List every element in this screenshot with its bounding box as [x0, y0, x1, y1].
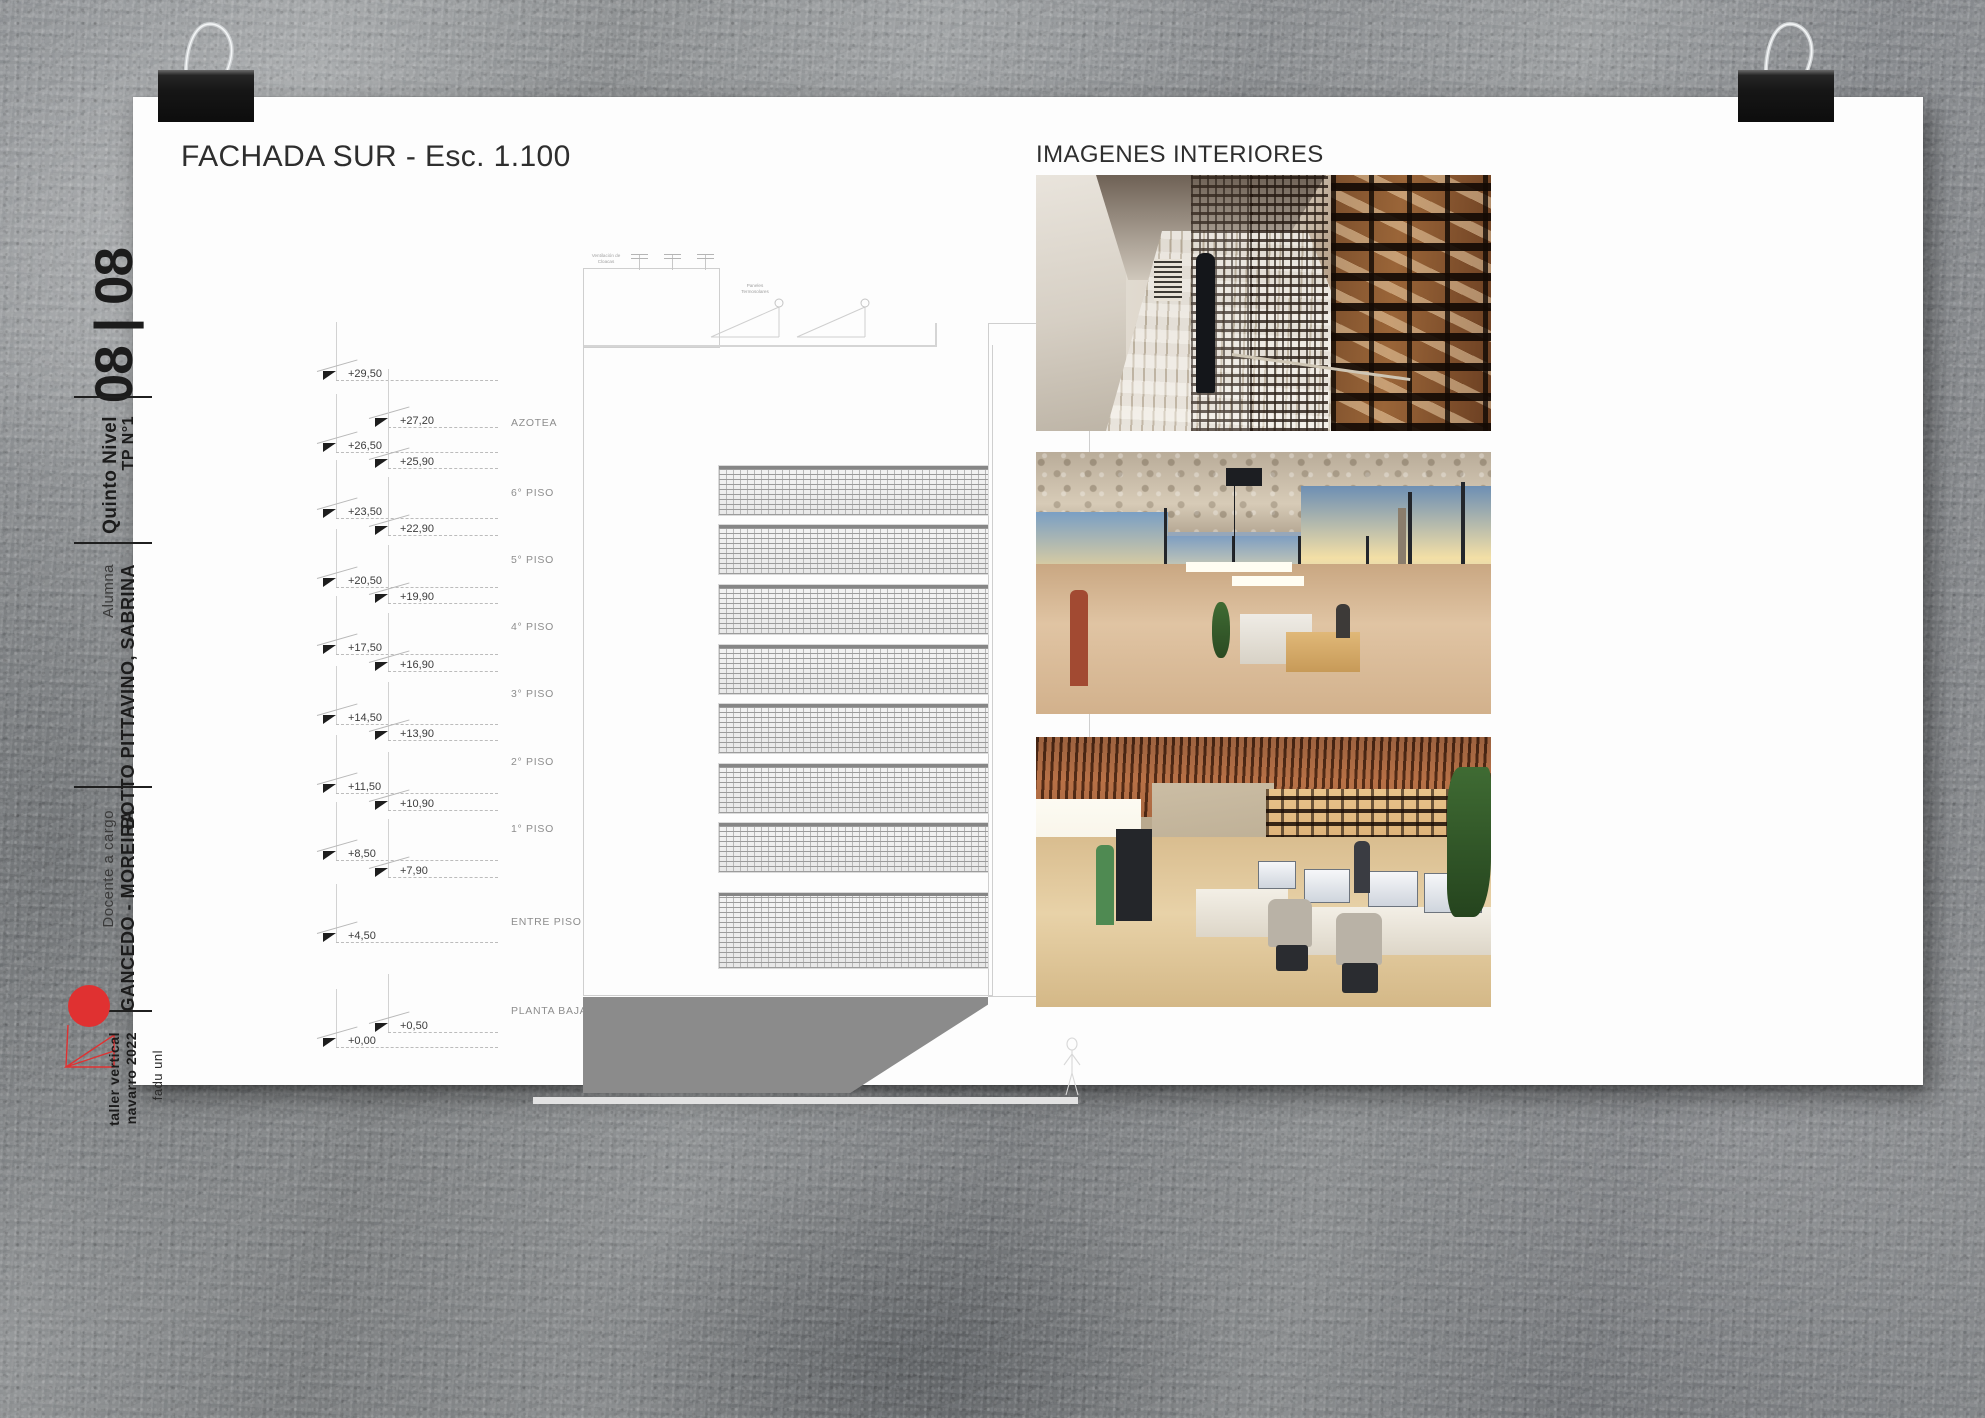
level-marker-triangle — [323, 784, 336, 793]
interior-image-office[interactable] — [1036, 737, 1491, 1007]
level-value-label: +14,50 — [348, 712, 382, 724]
floor-label: ENTRE PISO — [511, 916, 582, 928]
level-marker-triangle — [375, 662, 388, 671]
level-marker-triangle — [323, 1038, 336, 1047]
level-value-label: +11,50 — [348, 781, 381, 793]
level-datum-dashed-line — [336, 587, 498, 588]
level-marker-vertical-line — [336, 989, 337, 1047]
level-marker-vertical-line — [388, 613, 389, 671]
level-value-label: +10,90 — [400, 798, 434, 810]
scale-figure-icon — [1061, 1037, 1083, 1097]
perforated-screen-band — [719, 585, 988, 634]
level-value-label: +23,50 — [348, 506, 382, 518]
page-number: 08 | 08 — [88, 248, 141, 403]
monitor — [1368, 871, 1418, 907]
floor-label: 1° PISO — [511, 823, 554, 835]
perforated-screen-band — [719, 823, 988, 872]
level-marker-vertical-line — [336, 666, 337, 724]
floor-label: AZOTEA — [511, 417, 557, 429]
level-value-label: +8,50 — [348, 848, 376, 860]
level-value-label: +0,50 — [400, 1020, 428, 1032]
interior-image-corridor[interactable] — [1036, 175, 1491, 431]
binder-clip-right — [1738, 18, 1834, 122]
level-marker-triangle — [323, 371, 336, 380]
level-value-label: +27,20 — [400, 415, 434, 427]
level-datum-dashed-line — [336, 452, 498, 453]
level-marker-vertical-line — [336, 322, 337, 380]
level-marker-triangle — [323, 851, 336, 860]
vent-stack-cap — [664, 258, 681, 259]
level-datum-dashed-line — [336, 793, 498, 794]
level-marker-triangle — [375, 868, 388, 877]
level-marker-vertical-line — [336, 735, 337, 793]
level-datum-dashed-line — [388, 740, 498, 741]
annotation-ventilacion-cloacas: Ventilación de Cloacas — [583, 253, 629, 264]
office-plant-right — [1447, 767, 1491, 917]
binder-clip-body — [158, 70, 254, 122]
vent-stack-cap — [631, 258, 648, 259]
binder-clip-left — [158, 18, 254, 122]
level-marker-vertical-line — [336, 884, 337, 942]
lobby-plant — [1212, 602, 1230, 658]
level-marker-triangle — [375, 526, 388, 535]
floor-label: 5° PISO — [511, 554, 554, 566]
level-value-label: +26,50 — [348, 440, 382, 452]
lobby-figure-seated — [1336, 604, 1350, 638]
sidebar-divider — [74, 542, 152, 544]
tp-label: TP N°1 — [120, 416, 138, 470]
level-value-label: +19,90 — [400, 591, 434, 603]
page-title-imagenes: IMAGENES INTERIORES — [1036, 141, 1324, 169]
floor-label: 6° PISO — [511, 487, 554, 499]
level-marker-triangle — [323, 509, 336, 518]
level-marker-vertical-line — [388, 410, 389, 468]
pendant-light-upper — [1186, 562, 1292, 572]
perforated-screen-band — [719, 764, 988, 813]
level-datum-dashed-line — [388, 1032, 498, 1033]
ceiling-box-fixture — [1226, 468, 1262, 486]
sidebar-divider — [74, 396, 152, 398]
roof-step — [935, 323, 937, 347]
ground-line — [533, 1097, 1078, 1104]
vent-stack-icon — [705, 254, 706, 270]
level-marker-vertical-line — [336, 596, 337, 654]
perforated-screen-band — [719, 645, 988, 694]
level-datum-dashed-line — [388, 877, 498, 878]
level-datum-dashed-line — [388, 603, 498, 604]
perforated-screen-band — [719, 893, 988, 968]
vent-stack-cap — [631, 254, 648, 255]
monitor — [1304, 869, 1350, 903]
floor-label: 4° PISO — [511, 621, 554, 633]
page-title-fachada: FACHADA SUR - Esc. 1.100 — [181, 140, 571, 174]
monitor — [1258, 861, 1296, 889]
level-marker-triangle — [375, 731, 388, 740]
vent-stack-cap — [664, 254, 681, 255]
office-figure-standing — [1354, 841, 1370, 893]
interior-image-lobby[interactable] — [1036, 452, 1491, 714]
planta-baja-mass — [583, 997, 988, 1093]
level-datum-dashed-line — [336, 1047, 498, 1048]
sheet-sidebar: 08 | 08 Quinto Nivel TP N°1 Alumna BOTTO… — [28, 170, 150, 1370]
elevation-drawing: +29,50+27,20+26,50+25,90+23,50+22,90+20,… — [163, 237, 1003, 1067]
level-datum-dashed-line — [336, 860, 498, 861]
level-datum-dashed-line — [388, 535, 498, 536]
sidebar-divider — [74, 786, 152, 788]
level-marker-vertical-line — [388, 545, 389, 603]
level-datum-dashed-line — [388, 671, 498, 672]
level-marker-triangle — [375, 801, 388, 810]
floor-label: PLANTA BAJA — [511, 1005, 587, 1017]
level-marker-triangle — [323, 443, 336, 452]
lobby-figure-walking — [1070, 590, 1088, 686]
level-marker-vertical-line — [336, 460, 337, 518]
nivel-label: Quinto Nivel — [100, 416, 122, 534]
vent-stack-icon — [672, 254, 673, 270]
level-marker-vertical-line — [336, 394, 337, 452]
binder-clip-body — [1738, 70, 1834, 122]
level-value-label: +16,90 — [400, 659, 434, 671]
taller-line-1: taller vertical — [106, 1032, 122, 1126]
level-datum-dashed-line — [388, 810, 498, 811]
vent-stack-cap — [697, 258, 714, 259]
rooftop-volume — [583, 268, 720, 348]
level-marker-vertical-line — [336, 529, 337, 587]
level-value-label: +29,50 — [348, 368, 382, 380]
office-chair — [1336, 913, 1382, 965]
vent-stack-icon — [639, 254, 640, 270]
level-marker-triangle — [375, 1023, 388, 1032]
level-value-label: +25,90 — [400, 456, 434, 468]
office-chair — [1268, 899, 1312, 947]
building-elevation: Ventilación de Cloacas Paneles Termosola… — [583, 237, 1003, 1067]
pendant-light-lower — [1232, 576, 1304, 586]
level-value-label: +20,50 — [348, 575, 382, 587]
taller-line-2: navarro 2022 — [123, 1032, 139, 1124]
level-marker-triangle — [375, 594, 388, 603]
level-datum-dashed-line — [388, 468, 498, 469]
perforated-screen-band — [719, 525, 988, 574]
level-marker-vertical-line — [336, 802, 337, 860]
vent-stack-cap — [697, 254, 714, 255]
level-value-label: +13,90 — [400, 728, 434, 740]
level-value-label: +22,90 — [400, 523, 434, 535]
level-marker-triangle — [323, 645, 336, 654]
office-figure-walking — [1096, 845, 1114, 925]
office-shelving-unit — [1116, 829, 1152, 921]
level-value-label: +0,00 — [348, 1035, 376, 1047]
docente-name: GANCEDO - MOREIRA — [118, 810, 139, 1012]
floor-label: 3° PISO — [511, 688, 554, 700]
floor-label: 2° PISO — [511, 756, 554, 768]
perforated-screen-band — [719, 704, 988, 753]
level-marker-triangle — [323, 715, 336, 724]
office-chair-base — [1342, 963, 1378, 993]
level-value-label: +4,50 — [348, 930, 376, 942]
alumna-name: BOTTO PITTAVINO, SABRINA — [118, 564, 139, 829]
pendant-rod — [1234, 486, 1235, 564]
level-datum-dashed-line — [336, 724, 498, 725]
brick-lattice-deep — [1331, 175, 1491, 431]
docente-caption: Docente a cargo — [100, 810, 117, 928]
solar-panels-diagram — [705, 289, 925, 345]
level-datum-dashed-line — [336, 942, 498, 943]
level-datum-dashed-line — [388, 427, 498, 428]
corridor-end-screen — [1154, 259, 1182, 301]
level-value-label: +7,90 — [400, 865, 428, 877]
level-datum-dashed-line — [336, 654, 498, 655]
level-marker-vertical-line — [388, 752, 389, 810]
level-marker-triangle — [323, 933, 336, 942]
level-marker-vertical-line — [388, 477, 389, 535]
office-chair-base — [1276, 945, 1308, 971]
annotation-paneles-termosolares: Paneles Termosolares — [731, 283, 779, 294]
corridor-figure — [1196, 253, 1215, 393]
perforated-screen-band — [719, 466, 988, 515]
presentation-sheet: FACHADA SUR - Esc. 1.100 IMAGENES INTERI… — [133, 97, 1923, 1085]
level-marker-vertical-line — [388, 682, 389, 740]
level-marker-triangle — [375, 459, 388, 468]
level-marker-vertical-line — [388, 974, 389, 1032]
level-datum-dashed-line — [336, 380, 498, 381]
brick-lattice-mid — [1250, 175, 1328, 431]
level-marker-triangle — [375, 418, 388, 427]
level-datum-dashed-line — [336, 518, 498, 519]
level-marker-triangle — [323, 578, 336, 587]
institution-label: fadu unl — [150, 1050, 165, 1100]
level-marker-vertical-line — [388, 819, 389, 877]
reception-counter-wood — [1286, 632, 1360, 672]
level-value-label: +17,50 — [348, 642, 382, 654]
alumna-caption: Alumna — [100, 564, 117, 618]
